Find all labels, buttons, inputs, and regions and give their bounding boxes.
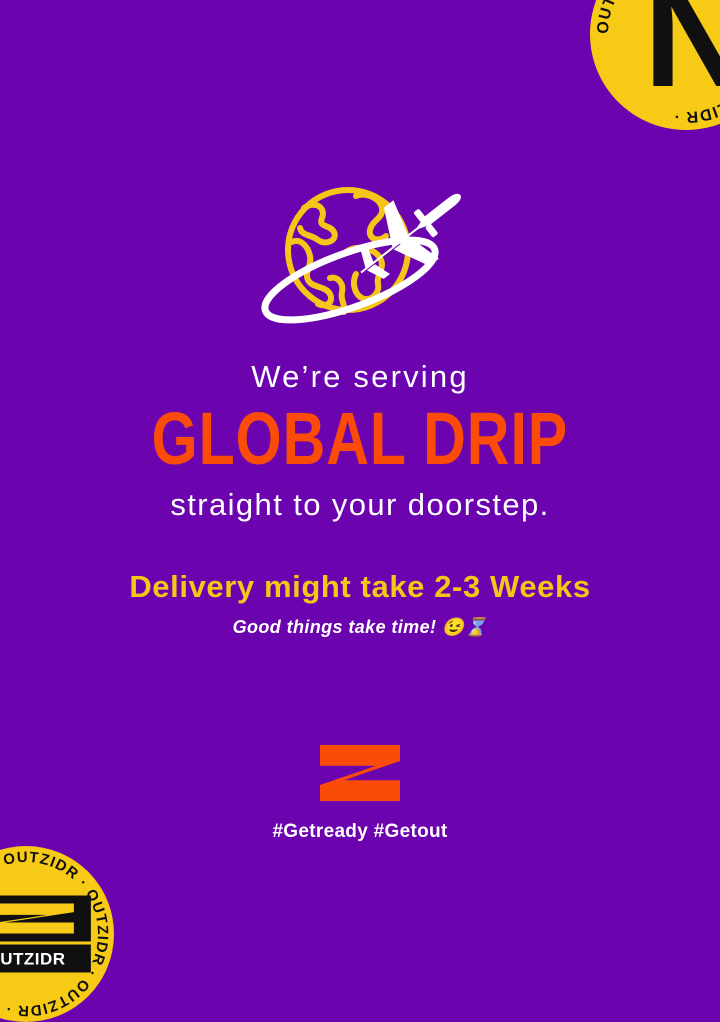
- delivery-notice-text: Delivery might take 2-3 Weeks: [0, 570, 720, 604]
- outzidr-seal-bottom-left: OUTZIDR · OUTZIDR · OUTZIDR · OUTZIDR · …: [0, 846, 114, 1022]
- hashtags-text: #Getready #Getout: [272, 821, 447, 843]
- seal-brand-name: OUTZIDR: [0, 950, 66, 967]
- headline-inner: GLOBAL DRIP: [152, 400, 569, 478]
- z-logo-icon: [0, 903, 74, 933]
- outzidr-seal-top-right: OUTZIDR · OUTZIDR · OUTZIDR · OUTZIDR · …: [590, 0, 720, 130]
- seal-name-bar: OUTZIDR: [0, 945, 91, 973]
- seal-big-letter-tr: N: [643, 0, 720, 109]
- eyebrow-text: We’re serving: [0, 360, 720, 394]
- headline-text: GLOBAL DRIP: [0, 406, 720, 472]
- globe-airplane-emblem: [0, 160, 720, 350]
- seal-core-bottom-left: OUTZIDR: [0, 896, 91, 973]
- subline-text: straight to your doorstep.: [0, 488, 720, 522]
- reassurance-text: Good things take time! 😉⌛: [0, 618, 720, 638]
- promo-copy-block: We’re serving GLOBAL DRIP straight to yo…: [0, 360, 720, 638]
- footer-brand-block: #Getready #Getout: [0, 745, 720, 843]
- seal-z-bar: [0, 896, 91, 942]
- z-logo-icon: [320, 745, 400, 801]
